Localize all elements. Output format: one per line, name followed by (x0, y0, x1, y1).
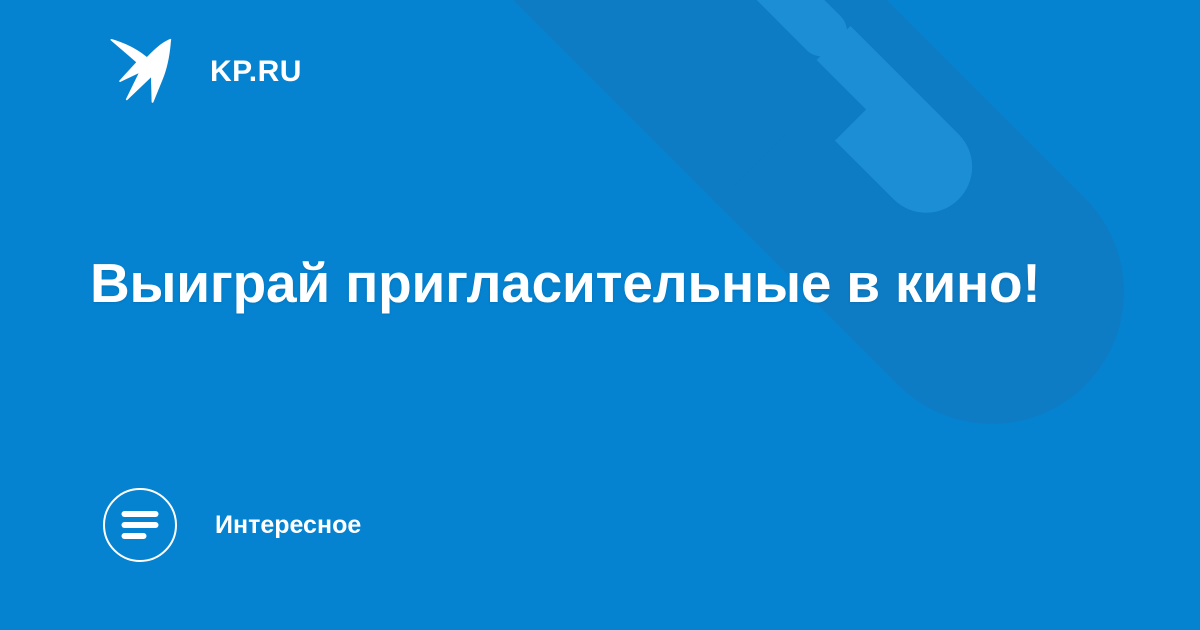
rubric-label: Интересное (215, 513, 361, 538)
hamburger-bar-2 (122, 522, 159, 528)
hamburger-bars (122, 511, 159, 539)
share-card: KP.RU Выиграй пригласительные в кино! Ин… (0, 0, 1200, 630)
brand-logo[interactable]: KP.RU (106, 36, 302, 108)
hamburger-lines-icon[interactable] (103, 488, 177, 562)
page-title: Выиграй пригласительные в кино! (90, 252, 1120, 315)
hamburger-bar-1 (122, 511, 159, 517)
swallow-bird-icon (106, 36, 180, 108)
brand-wordmark: KP.RU (210, 57, 302, 87)
rubric[interactable]: Интересное (103, 487, 361, 563)
hamburger-bar-3 (122, 533, 147, 539)
